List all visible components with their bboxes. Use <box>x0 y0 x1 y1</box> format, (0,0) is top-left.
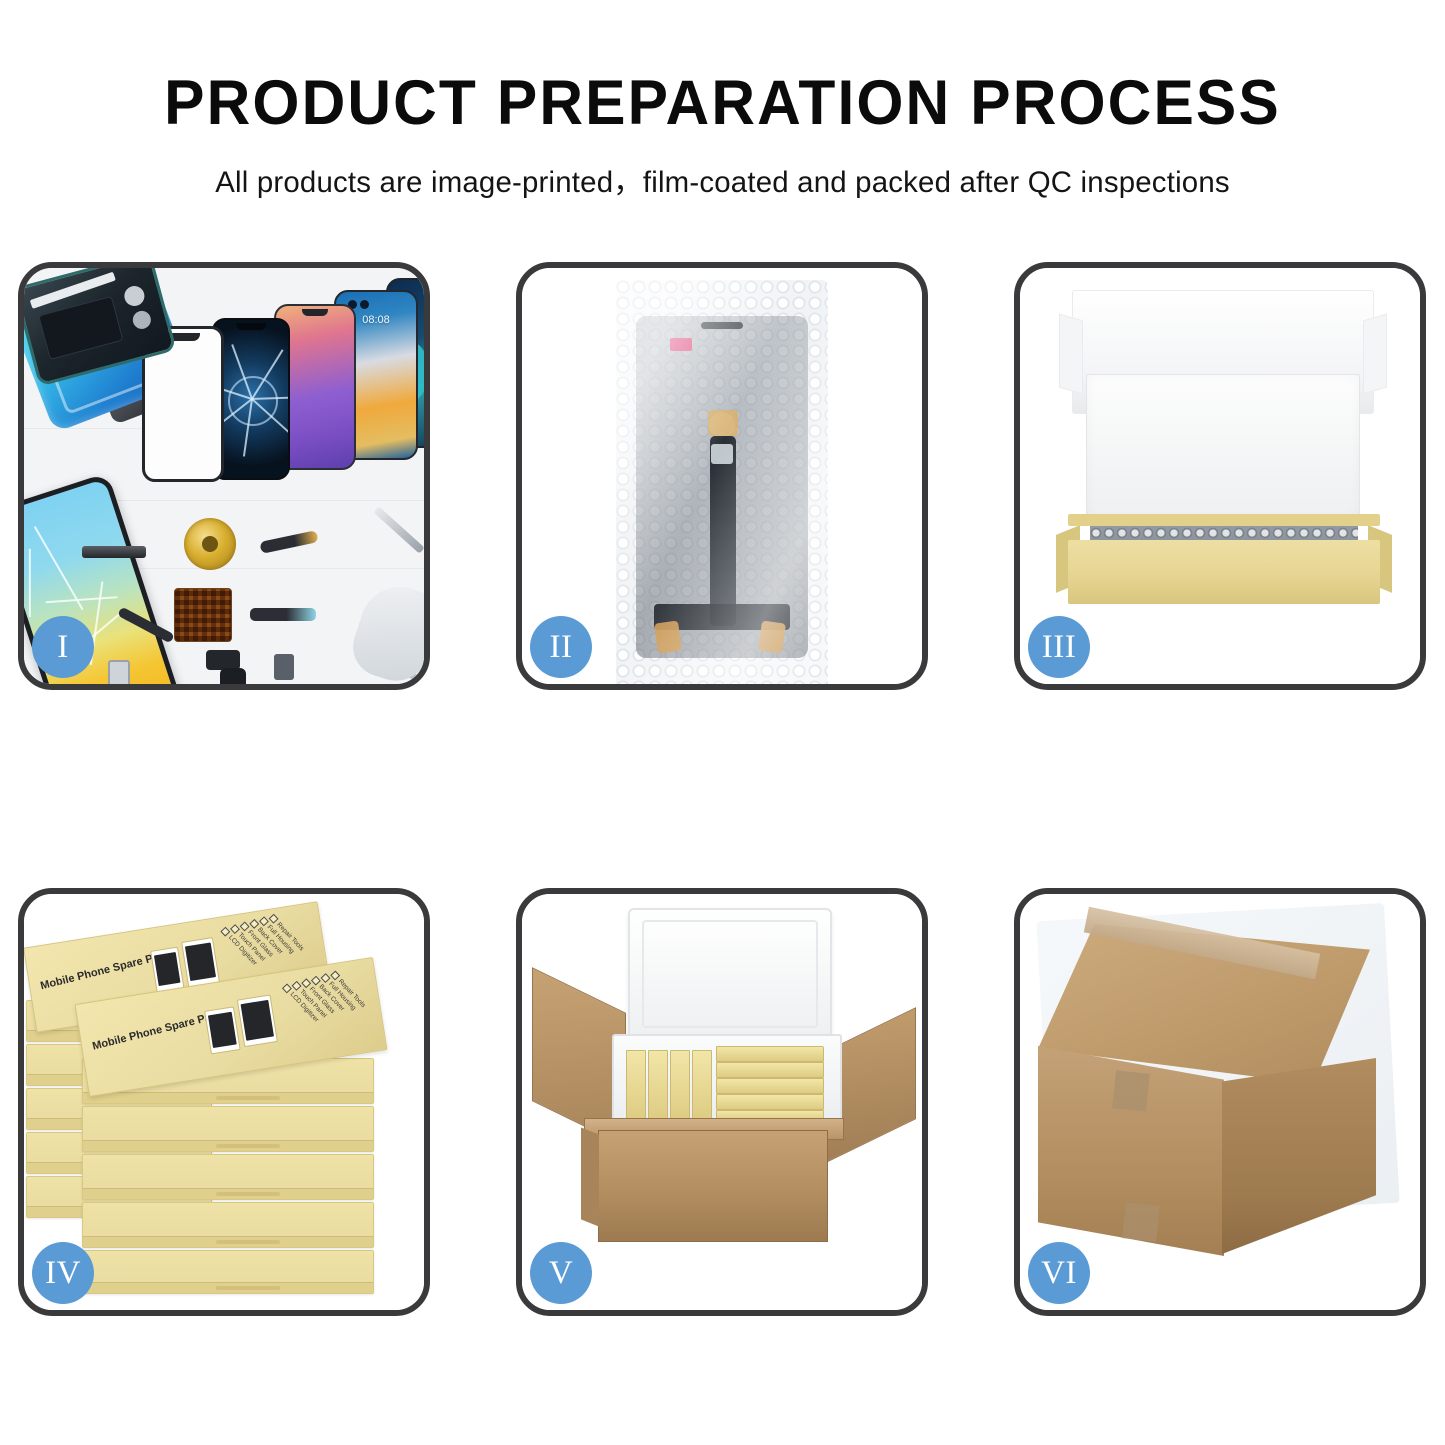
carton-side-face <box>1222 1058 1376 1254</box>
stacked-box <box>82 1154 374 1200</box>
bubble-wrapped-screen-image <box>522 268 922 684</box>
hand-holding-tool <box>345 577 430 690</box>
camera-module-1 <box>206 650 240 670</box>
step-2-panel: II <box>516 262 928 690</box>
step-badge-5: V <box>530 1242 592 1304</box>
process-step-6[interactable]: VI <box>1014 888 1426 1316</box>
sealed-shipping-carton-image <box>1020 894 1420 1310</box>
header: PRODUCT PREPARATION PROCESS All products… <box>0 0 1445 201</box>
step-badge-4: IV <box>32 1242 94 1304</box>
infographic-page: PRODUCT PREPARATION PROCESS All products… <box>0 0 1445 1445</box>
carton-with-foam-cooler-image <box>522 894 922 1310</box>
step-badge-3: III <box>1028 616 1090 678</box>
speaker-part <box>184 518 236 570</box>
stacked-retail-boxes-image: Mobile Phone Spare Parts LCD Digitizer T… <box>24 894 424 1310</box>
yellow-boxes-inside <box>626 1046 824 1120</box>
step-badge-1: I <box>32 616 94 678</box>
sim-tray-part <box>108 660 130 690</box>
earpiece-part <box>82 546 146 558</box>
page-title: PRODUCT PREPARATION PROCESS <box>29 0 1416 135</box>
flex-cable-3 <box>250 608 316 621</box>
foam-cooler-lid <box>628 908 832 1040</box>
step-1-panel: 08:08 <box>18 262 430 690</box>
open-mailer-box-image <box>1020 268 1420 684</box>
process-step-2[interactable]: II <box>516 262 928 690</box>
process-steps-grid: 08:08 <box>0 262 1445 1332</box>
stacked-box <box>82 1250 374 1294</box>
tweezer-tool <box>373 506 424 553</box>
spare-parts-collage-image: 08:08 <box>24 268 424 684</box>
foam-sheet <box>1086 374 1360 520</box>
bubble-wrap-sheen <box>616 280 828 690</box>
step-5-panel: V <box>516 888 928 1316</box>
ic-chip-part <box>174 588 232 642</box>
flex-cable-2 <box>259 530 318 554</box>
tape-tab-lower <box>1122 1202 1160 1241</box>
step-3-panel: III <box>1014 262 1426 690</box>
step-badge-2: II <box>530 616 592 678</box>
stacked-box <box>82 1106 374 1152</box>
yellow-mailer-box <box>1068 508 1380 604</box>
battery-connector-part <box>274 654 294 680</box>
process-step-5[interactable]: V <box>516 888 928 1316</box>
process-step-4[interactable]: Mobile Phone Spare Parts LCD Digitizer T… <box>18 888 430 1316</box>
process-step-3[interactable]: III <box>1014 262 1426 690</box>
process-step-1[interactable]: 08:08 <box>18 262 430 690</box>
camera-module-2 <box>220 668 246 690</box>
bubble-wrap-bag <box>616 280 828 690</box>
step-6-panel: VI <box>1014 888 1426 1316</box>
carton-body <box>598 1130 828 1242</box>
tape-tab-upper <box>1112 1070 1150 1111</box>
page-subtitle: All products are image-printed，film-coat… <box>14 135 1430 201</box>
step-badge-6: VI <box>1028 1242 1090 1304</box>
step-4-panel: Mobile Phone Spare Parts LCD Digitizer T… <box>18 888 430 1316</box>
screw-2 <box>415 683 430 690</box>
stacked-box <box>82 1202 374 1248</box>
